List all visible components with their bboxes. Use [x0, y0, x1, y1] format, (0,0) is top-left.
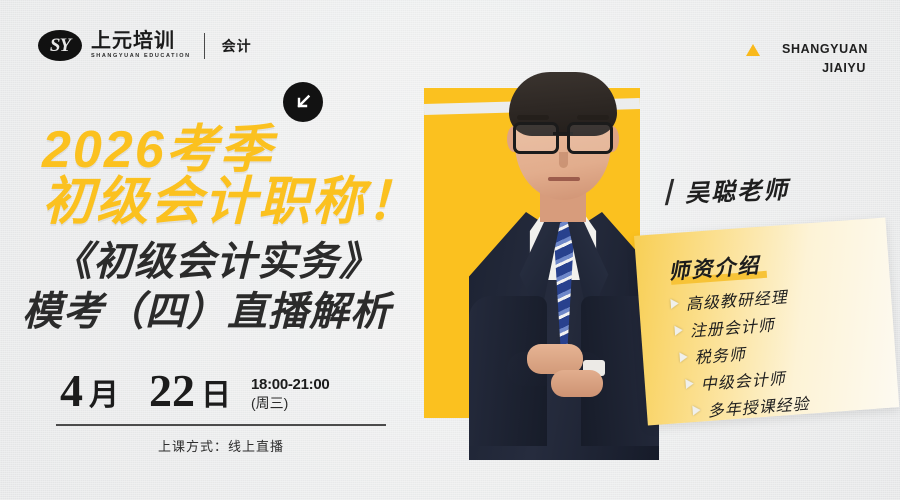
credential-label: 多年授课经验 [707, 390, 810, 421]
logo-name-en: SHANGYUAN EDUCATION [91, 54, 191, 60]
bullet-triangle-icon [685, 378, 694, 389]
schedule-mode: 上课方式：线上直播 [56, 436, 386, 455]
teacher-panel-title: 师资介绍 [668, 254, 761, 284]
credential-label: 注册会计师 [689, 311, 776, 341]
photo-lens-left [513, 122, 559, 154]
schedule-weekday: (周三) [251, 395, 329, 413]
teacher-name: 吴聪老师 [684, 170, 789, 209]
schedule-month-unit: 月 [89, 381, 119, 411]
headline-line-2: 初级会计职称！ [42, 176, 420, 228]
teacher-credential-list: 高级教研经理 注册会计师 税务师 中级会计师 多年授课经验 [644, 276, 900, 426]
logo-mark-sy: SY [38, 30, 82, 61]
brand-block: SHANGYUAN JIAIYU [746, 40, 868, 79]
logo-text-group: 上元培训 SHANGYUAN EDUCATION [91, 31, 191, 60]
photo-hand-lower [551, 370, 603, 397]
teacher-info-content: 师资介绍 高级教研经理 注册会计师 税务师 中级会计师 多年授课经验 [640, 222, 900, 430]
logo-name-cn: 上元培训 [91, 31, 191, 51]
teacher-name-block: 吴聪老师 [667, 170, 789, 209]
photo-mouth [548, 177, 580, 181]
schedule-divider [56, 424, 386, 426]
photo-eyebrow-left [517, 115, 549, 120]
credential-label: 税务师 [694, 341, 747, 369]
subtitle-line-2: 模考（四）直播解析 [22, 292, 391, 332]
triangle-icon [746, 44, 760, 56]
logo-subject: 会计 [222, 36, 252, 56]
photo-lens-right [567, 122, 613, 154]
brand-logo: SY 上元培训 SHANGYUAN EDUCATION 会计 [38, 30, 252, 61]
schedule-month-number: 4 [60, 368, 83, 414]
brand-row-primary: SHANGYUAN [746, 40, 868, 59]
photo-nose [559, 152, 568, 168]
schedule-day-number: 22 [149, 368, 195, 414]
bullet-triangle-icon [679, 352, 688, 363]
arrow-down-left-icon [283, 82, 323, 122]
teacher-panel-heading: 师资介绍 [667, 249, 761, 286]
schedule-time-range: 18:00-21:00 [251, 376, 329, 395]
photo-eyebrow-right [577, 115, 609, 120]
bullet-triangle-icon [674, 325, 683, 336]
bullet-triangle-icon [692, 405, 701, 416]
photo-eyeglasses [513, 122, 613, 148]
brand-line-2: JIAIYU [746, 59, 866, 78]
bullet-triangle-icon [670, 298, 679, 309]
credential-label: 高级教研经理 [685, 283, 788, 314]
credential-label: 中级会计师 [700, 365, 787, 395]
headline-line-1: 2026考季 [42, 124, 274, 176]
schedule-time-group: 18:00-21:00 (周三) [251, 376, 329, 412]
schedule-day-unit: 日 [201, 381, 231, 411]
schedule-date: 4 月 22 日 18:00-21:00 (周三) [60, 368, 329, 414]
brand-line-1: SHANGYUAN [782, 40, 868, 59]
subtitle-line-1: 《初级会计实务》 [52, 242, 380, 282]
promo-banner: SY 上元培训 SHANGYUAN EDUCATION 会计 SHANGYUAN… [0, 0, 900, 500]
logo-divider [204, 33, 205, 59]
